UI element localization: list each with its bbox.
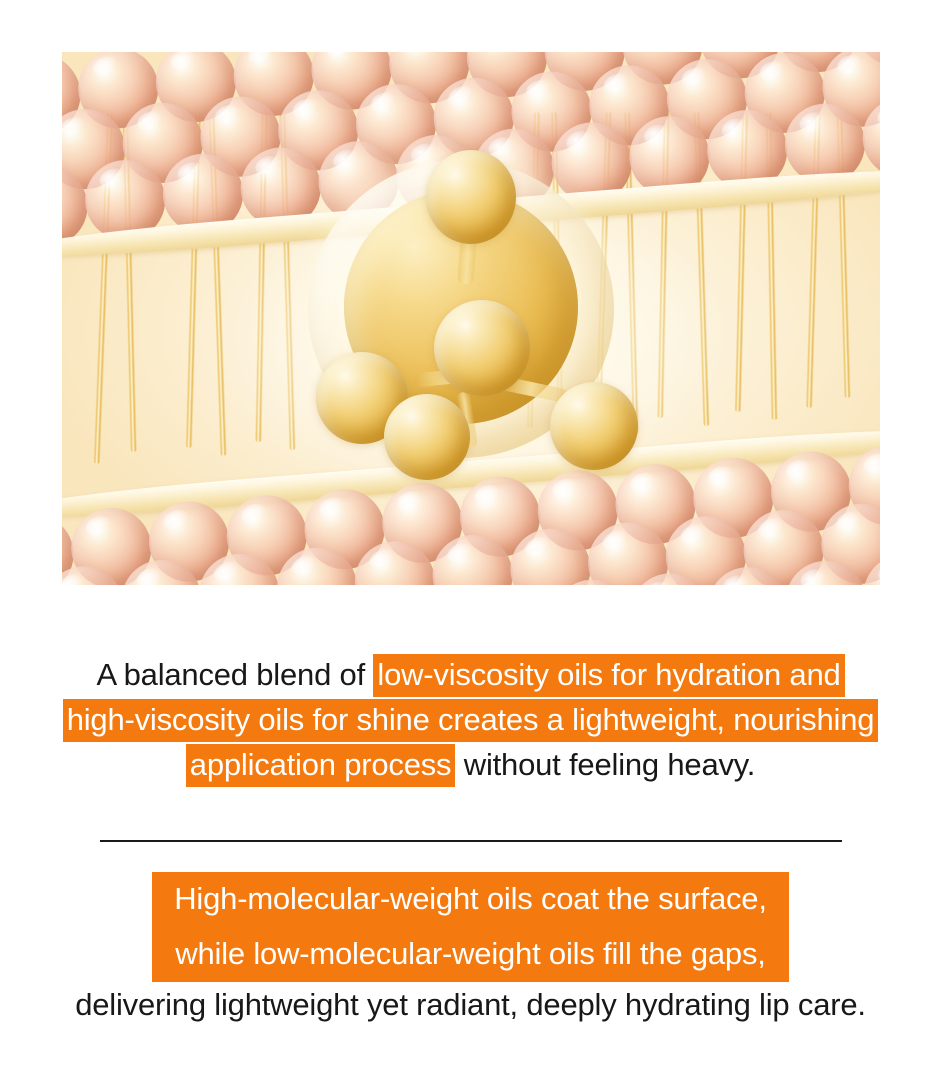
cell-sphere (272, 541, 357, 585)
statement-text-plain: delivering lightweight yet radiant, deep… (75, 987, 866, 1022)
statement-text-highlighted: application process (186, 744, 456, 787)
statement-line: A balanced blend of low-viscosity oils f… (0, 652, 941, 697)
balanced-blend-statement: A balanced blend of low-viscosity oils f… (0, 652, 941, 787)
statement-text-highlighted: while low-molecular-weight oils fill the… (152, 927, 789, 982)
molecule-droplet-top (426, 150, 516, 244)
statement-line: High-molecular-weight oils coat the surf… (0, 872, 941, 927)
cell-sphere (194, 547, 279, 585)
section-divider (100, 840, 842, 842)
cell-sphere (505, 522, 590, 585)
statement-text-highlighted: low-viscosity oils for hydration and (373, 654, 844, 697)
statement-line: high-viscosity oils for shine creates a … (0, 697, 941, 742)
molecule-droplet-center (434, 300, 530, 396)
cell-sphere (62, 560, 124, 585)
cell-sphere (427, 528, 512, 585)
statement-line: while low-molecular-weight oils fill the… (0, 927, 941, 982)
hero-illustration (62, 52, 880, 585)
cell-sphere (858, 548, 880, 585)
statement-line: application process without feeling heav… (0, 742, 941, 787)
cell-sphere (350, 535, 435, 585)
statement-text-plain: A balanced blend of (96, 657, 373, 692)
molecule-droplet-bottom (384, 394, 470, 480)
statement-text-highlighted: High-molecular-weight oils coat the surf… (152, 872, 789, 927)
molecule-droplet-right (550, 382, 638, 470)
molecular-weight-statement: High-molecular-weight oils coat the surf… (0, 872, 941, 1027)
cell-sphere (116, 553, 201, 585)
statement-text-plain: without feeling heavy. (455, 747, 755, 782)
statement-line: delivering lightweight yet radiant, deep… (0, 982, 941, 1027)
statement-text-highlighted: high-viscosity oils for shine creates a … (63, 699, 879, 742)
cell-sphere (780, 554, 865, 585)
